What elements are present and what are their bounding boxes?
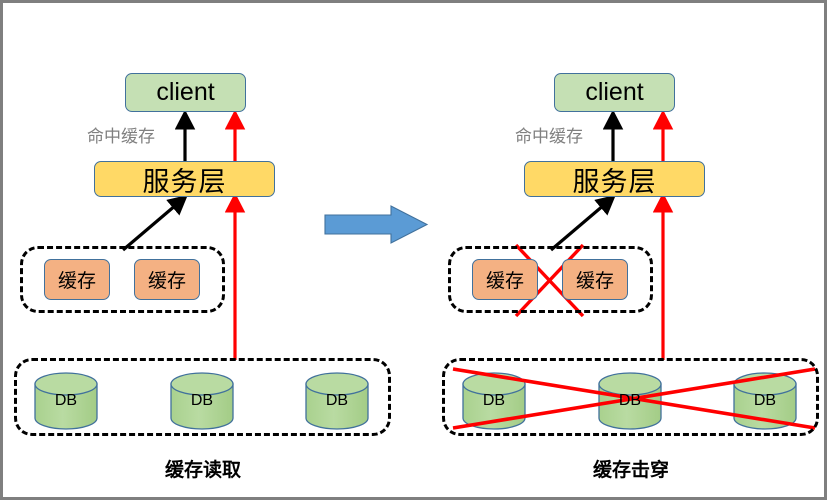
- right-client-box[interactable]: client: [554, 73, 675, 112]
- right-cache-label-1: 缓存: [486, 266, 524, 293]
- left-service-layer-label: 服务层: [143, 160, 227, 199]
- left-cache-node-1[interactable]: 缓存: [44, 259, 110, 300]
- left-service-layer-box[interactable]: 服务层: [94, 161, 275, 197]
- left-cache-label-1: 缓存: [58, 266, 96, 293]
- left-panel-caption: 缓存读取: [103, 455, 303, 482]
- left-arrow-cache-to-service: [123, 199, 183, 250]
- right-arrow-cache-to-service: [551, 199, 611, 250]
- left-db-group: [14, 358, 391, 436]
- right-arrow-icon: [325, 206, 427, 243]
- right-db-group: [442, 358, 819, 436]
- left-client-label: client: [156, 78, 214, 107]
- right-cache-label-2: 缓存: [576, 266, 614, 293]
- left-cache-node-2[interactable]: 缓存: [134, 259, 200, 300]
- left-cache-label-2: 缓存: [148, 266, 186, 293]
- right-service-layer-box[interactable]: 服务层: [524, 161, 705, 197]
- diagram-canvas: client 命中缓存 服务层 缓存 缓存 DB DB DB 缓存读取 clie…: [0, 0, 827, 500]
- right-cache-node-2[interactable]: 缓存: [562, 259, 628, 300]
- left-hit-cache-label: 命中缓存: [87, 122, 155, 147]
- right-service-layer-label: 服务层: [573, 160, 657, 199]
- right-client-label: client: [585, 78, 643, 107]
- left-client-box[interactable]: client: [125, 73, 246, 112]
- right-hit-cache-label: 命中缓存: [515, 122, 583, 147]
- right-cache-node-1[interactable]: 缓存: [472, 259, 538, 300]
- right-panel-caption: 缓存击穿: [531, 455, 731, 482]
